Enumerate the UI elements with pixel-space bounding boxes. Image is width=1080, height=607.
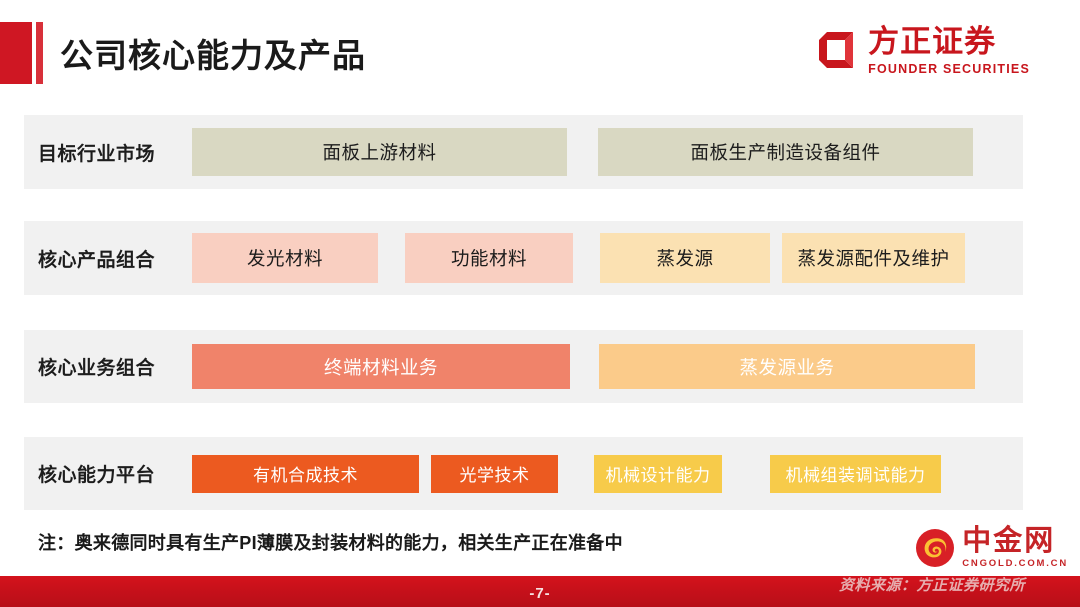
row-label-core-capability-platform: 核心能力平台 <box>24 460 192 487</box>
cngold-text: 中金网 CNGOLD.COM.CN <box>962 527 1068 569</box>
cell-light-emitting-material[interactable]: 发光材料 <box>192 233 378 283</box>
row-label-core-business-mix: 核心业务组合 <box>24 353 192 380</box>
cell-terminal-material-business[interactable]: 终端材料业务 <box>192 344 570 389</box>
row-core-business-mix: 核心业务组合 终端材料业务 蒸发源业务 <box>24 330 1023 403</box>
row-target-market: 目标行业市场 面板上游材料 面板生产制造设备组件 <box>24 115 1023 189</box>
row-cells-core-business-mix: 终端材料业务 蒸发源业务 <box>192 330 1023 403</box>
cell-functional-material[interactable]: 功能材料 <box>405 233 573 283</box>
row-cells-core-product-mix: 发光材料 功能材料 蒸发源 蒸发源配件及维护 <box>192 221 1023 295</box>
cngold-chinese-name: 中金网 <box>962 527 1055 556</box>
row-core-product-mix: 核心产品组合 发光材料 功能材料 蒸发源 蒸发源配件及维护 <box>24 221 1023 295</box>
cell-mechanical-assembly-debug-capability[interactable]: 机械组装调试能力 <box>770 455 941 493</box>
page-title: 公司核心能力及产品 <box>60 24 366 82</box>
page-number: -7- <box>0 585 1080 602</box>
cell-evaporation-source[interactable]: 蒸发源 <box>600 233 770 283</box>
header-accent-block <box>0 22 32 84</box>
logo-chinese-name: 方正证券 <box>868 26 996 59</box>
founder-securities-logo: 方正证券 FOUNDER SECURITIES <box>815 26 1030 76</box>
cngold-swirl-icon <box>915 528 955 568</box>
row-core-capability-platform: 核心能力平台 有机合成技术 光学技术 机械设计能力 机械组装调试能力 <box>24 437 1023 510</box>
cngold-url: CNGOLD.COM.CN <box>962 558 1068 569</box>
cell-mechanical-design-capability[interactable]: 机械设计能力 <box>594 455 722 493</box>
cell-panel-upstream-material[interactable]: 面板上游材料 <box>192 128 567 176</box>
footnote-text: 注：奥来德同时具有生产PI薄膜及封装材料的能力，相关生产正在准备中 <box>38 529 623 555</box>
row-cells-core-capability-platform: 有机合成技术 光学技术 机械设计能力 机械组装调试能力 <box>192 437 1023 510</box>
cell-organic-synthesis-technology[interactable]: 有机合成技术 <box>192 455 419 493</box>
row-cells-target-market: 面板上游材料 面板生产制造设备组件 <box>192 115 1023 189</box>
cell-panel-manufacturing-equipment[interactable]: 面板生产制造设备组件 <box>598 128 973 176</box>
cell-evaporation-source-parts-maintenance[interactable]: 蒸发源配件及维护 <box>782 233 965 283</box>
row-label-target-market: 目标行业市场 <box>24 139 192 166</box>
slide-canvas: 公司核心能力及产品 方正证券 FOUNDER SECURITIES 目标行业市场… <box>0 0 1080 607</box>
header-accent-bar <box>36 22 43 84</box>
cngold-watermark: 中金网 CNGOLD.COM.CN <box>915 527 1068 569</box>
logo-english-name: FOUNDER SECURITIES <box>868 62 1030 76</box>
logo-text: 方正证券 FOUNDER SECURITIES <box>868 26 1030 76</box>
row-label-core-product-mix: 核心产品组合 <box>24 245 192 272</box>
cell-optical-technology[interactable]: 光学技术 <box>431 455 558 493</box>
cell-evaporation-source-business[interactable]: 蒸发源业务 <box>599 344 975 389</box>
founder-logo-icon <box>815 28 859 72</box>
